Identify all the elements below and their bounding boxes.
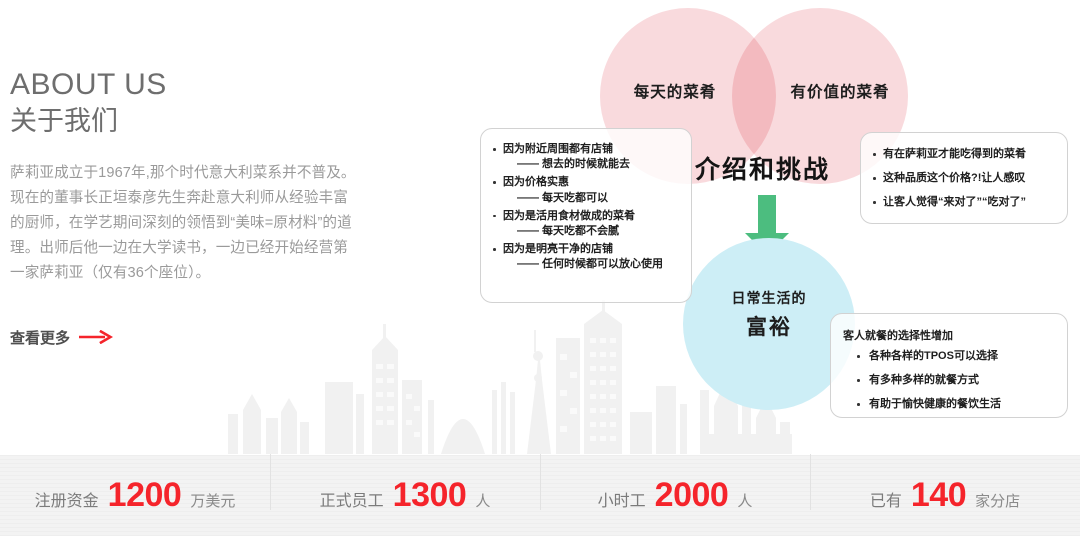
page-title-en: ABOUT US [10, 68, 370, 102]
list-item: 这种品质这个价格?!让人感叹 [871, 171, 1059, 186]
note-main: 因为价格实惠 [503, 176, 569, 188]
stats-bar: 注册资金 1200 万美元 正式员工 1300 人 小时工 2000 人 已有 … [0, 455, 1080, 536]
circle-valuable-dishes-label: 有价值的菜肴 [770, 80, 910, 102]
right-note-list: 有在萨莉亚才能吃得到的菜肴 这种品质这个价格?!让人感叹 让客人觉得“来对了”“… [871, 147, 1059, 211]
stat-unit: 万美元 [190, 490, 235, 511]
left-note-box: 因为附近周围都有店铺 —— 想去的时候就能去 因为价格实惠 —— 每天吃都可以 … [480, 128, 692, 303]
note-sub: —— 任何时候都可以放心使用 [503, 257, 681, 272]
right-note-box: 有在萨莉亚才能吃得到的菜肴 这种品质这个价格?!让人感叹 让客人觉得“来对了”“… [860, 132, 1068, 224]
stat-value: 1300 [393, 476, 467, 515]
stat-full-time-staff: 正式员工 1300 人 [270, 476, 540, 515]
bottom-note-heading: 客人就餐的选择性增加 [843, 327, 1057, 343]
stat-part-time-staff: 小时工 2000 人 [540, 476, 810, 515]
list-item: 因为是明亮干净的店铺 —— 任何时候都可以放心使用 [491, 242, 681, 272]
stat-value: 1200 [108, 476, 182, 515]
list-item: 因为价格实惠 —— 每天吃都可以 [491, 175, 681, 205]
stat-registered-capital: 注册资金 1200 万美元 [0, 476, 270, 515]
page-title-cn: 关于我们 [10, 104, 370, 139]
stat-unit: 人 [737, 490, 752, 511]
view-more-link[interactable]: 查看更多 [10, 327, 113, 348]
stat-branch-stores: 已有 140 家分店 [810, 476, 1080, 515]
stat-label: 注册资金 [35, 487, 99, 511]
concept-diagram: 每天的菜肴 有价值的菜肴 介绍和挑战 日常生活的 富裕 因为附近周围都有店铺 —… [460, 0, 1080, 452]
diagram-center-title: 介绍和挑战 [695, 150, 830, 186]
list-item: 各种各样的TPOS可以选择 [843, 349, 1057, 364]
about-section: ABOUT US 关于我们 萨莉亚成立于1967年,那个时代意大利菜系并不普及。… [10, 68, 370, 348]
about-paragraph: 萨莉亚成立于1967年,那个时代意大利菜系并不普及。现在的董事长正垣泰彦先生奔赴… [10, 161, 362, 286]
stat-unit: 家分店 [975, 490, 1020, 511]
bottom-note-list: 各种各样的TPOS可以选择 有多种多样的就餐方式 有助于愉快健康的餐饮生活 [843, 349, 1057, 413]
stat-label: 正式员工 [320, 487, 384, 511]
list-item: 让客人觉得“来对了”“吃对了” [871, 195, 1059, 210]
left-note-list: 因为附近周围都有店铺 —— 想去的时候就能去 因为价格实惠 —— 每天吃都可以 … [491, 142, 681, 272]
note-sub: —— 每天吃都可以 [503, 191, 681, 206]
list-item: 有在萨莉亚才能吃得到的菜肴 [871, 147, 1059, 162]
stat-value: 2000 [655, 476, 729, 515]
note-main: 因为是活用食材做成的菜肴 [503, 210, 635, 222]
view-more-label: 查看更多 [10, 327, 70, 348]
stat-value: 140 [911, 476, 966, 515]
bottom-note-box: 客人就餐的选择性增加 各种各样的TPOS可以选择 有多种多样的就餐方式 有助于愉… [830, 313, 1068, 418]
circle-everyday-dishes-label: 每天的菜肴 [610, 80, 740, 102]
arrow-right-icon [79, 330, 113, 344]
list-item: 因为附近周围都有店铺 —— 想去的时候就能去 [491, 142, 681, 172]
stat-unit: 人 [475, 490, 490, 511]
note-sub: —— 想去的时候就能去 [503, 157, 681, 172]
circle-daily-life-line1: 日常生活的 [683, 288, 855, 308]
note-main: 因为附近周围都有店铺 [503, 143, 613, 155]
note-sub: —— 每天吃都不会腻 [503, 224, 681, 239]
about-us-page: ABOUT US 关于我们 萨莉亚成立于1967年,那个时代意大利菜系并不普及。… [0, 0, 1080, 536]
list-item: 因为是活用食材做成的菜肴 —— 每天吃都不会腻 [491, 209, 681, 239]
note-main: 因为是明亮干净的店铺 [503, 243, 613, 255]
stat-label: 小时工 [598, 487, 646, 511]
stat-label: 已有 [870, 487, 902, 511]
list-item: 有多种多样的就餐方式 [843, 373, 1057, 388]
list-item: 有助于愉快健康的餐饮生活 [843, 397, 1057, 412]
